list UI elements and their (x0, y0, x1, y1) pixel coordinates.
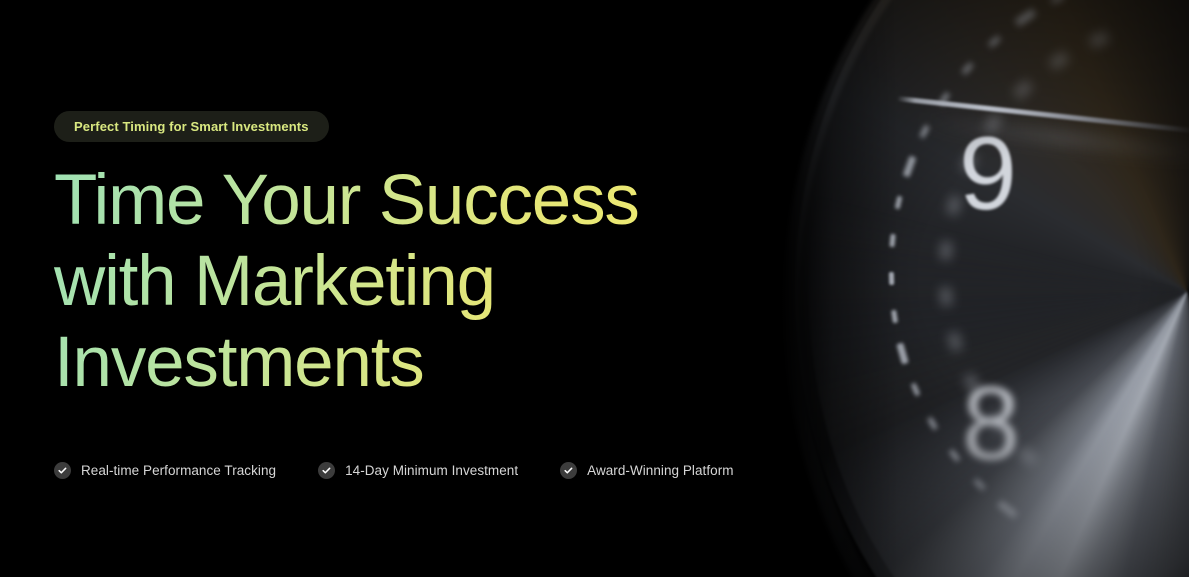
feature-item-label: Real-time Performance Tracking (81, 463, 276, 478)
check-circle-icon (54, 462, 71, 479)
watch-tick-inner (940, 241, 952, 260)
hero-content: Perfect Timing for Smart Investments Tim… (54, 0, 834, 577)
hero-badge[interactable]: Perfect Timing for Smart Investments (54, 111, 329, 142)
watch-tick-inner (940, 287, 953, 306)
feature-item-label: Award-Winning Platform (587, 463, 733, 478)
hero-badge-label: Perfect Timing for Smart Investments (74, 119, 309, 134)
watch-numeral-9: 9 (959, 122, 1017, 226)
watch-tick-minor (888, 272, 893, 285)
watch-numeral-8: 8 (962, 372, 1020, 476)
check-circle-icon (318, 462, 335, 479)
page-title: Time Your Success with Marketing Investm… (54, 160, 754, 403)
hero-feature-list: Real-time Performance Tracking14-Day Min… (54, 462, 734, 479)
watch-bezel-inner (809, 0, 1189, 577)
feature-item: Award-Winning Platform (560, 462, 733, 479)
feature-item: 14-Day Minimum Investment (318, 462, 518, 479)
feature-item-label: 14-Day Minimum Investment (345, 463, 518, 478)
check-circle-icon (560, 462, 577, 479)
feature-item: Real-time Performance Tracking (54, 462, 276, 479)
